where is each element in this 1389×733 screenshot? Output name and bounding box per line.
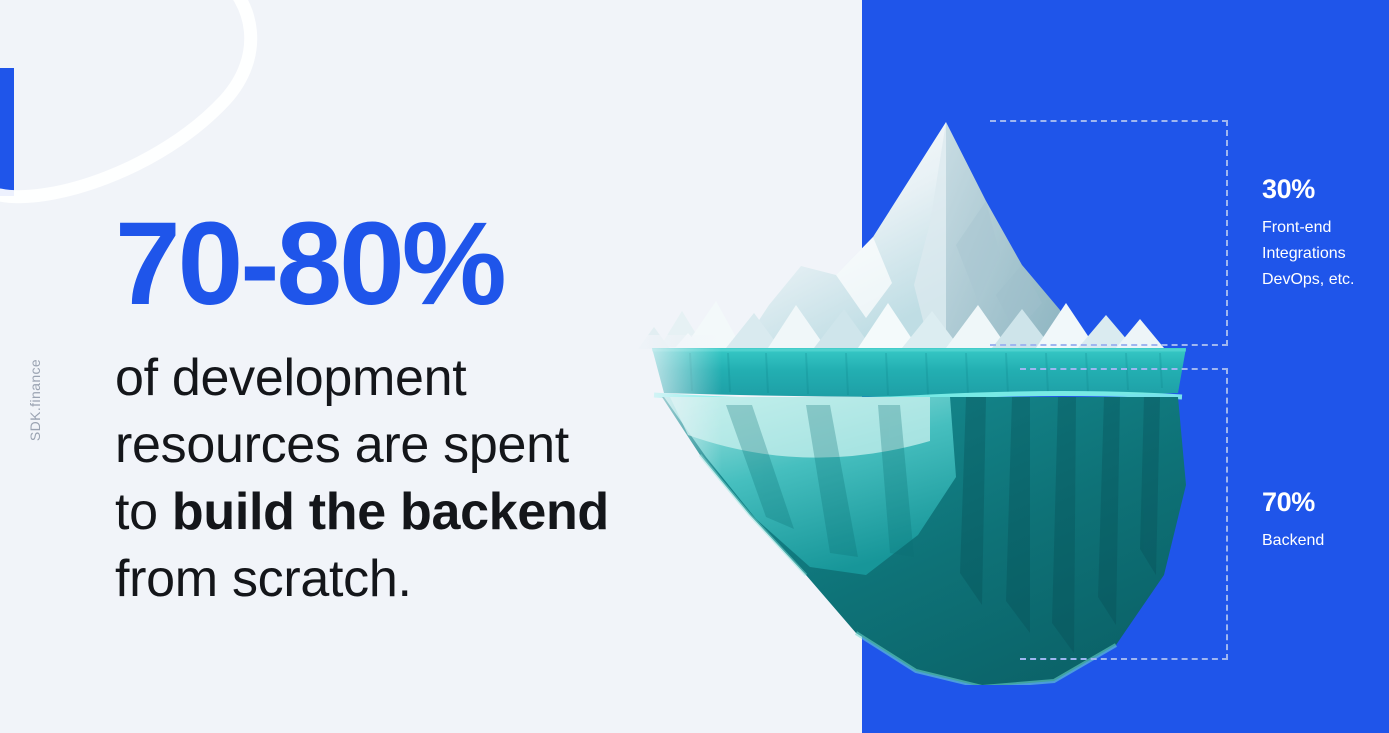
legend-desc-backend: Backend	[1262, 528, 1324, 554]
body-line-3-emphasis: build the backend	[172, 483, 609, 541]
infographic-canvas: SDK.finance 70-80% of development resour…	[0, 0, 1389, 733]
legend-percent-front-end: 30%	[1262, 175, 1354, 205]
legend-percent-backend: 70%	[1262, 488, 1324, 518]
legend-item-front-end: 30% Front-end Integrations DevOps, etc.	[1262, 175, 1354, 293]
accent-bar	[0, 68, 14, 196]
brand-mark: SDK.finance	[27, 340, 43, 460]
legend-desc-front-end: Front-end Integrations DevOps, etc.	[1262, 215, 1354, 293]
body-line-3-prefix: to	[115, 483, 172, 541]
legend-desc-line-2: Integrations	[1262, 241, 1354, 267]
bracket-front-end	[990, 120, 1228, 346]
legend-item-backend: 70% Backend	[1262, 488, 1324, 554]
bracket-backend	[1020, 368, 1228, 660]
legend-desc-line-1: Front-end	[1262, 215, 1354, 241]
legend-desc-backend-line-1: Backend	[1262, 528, 1324, 554]
legend-desc-line-3: DevOps, etc.	[1262, 267, 1354, 293]
